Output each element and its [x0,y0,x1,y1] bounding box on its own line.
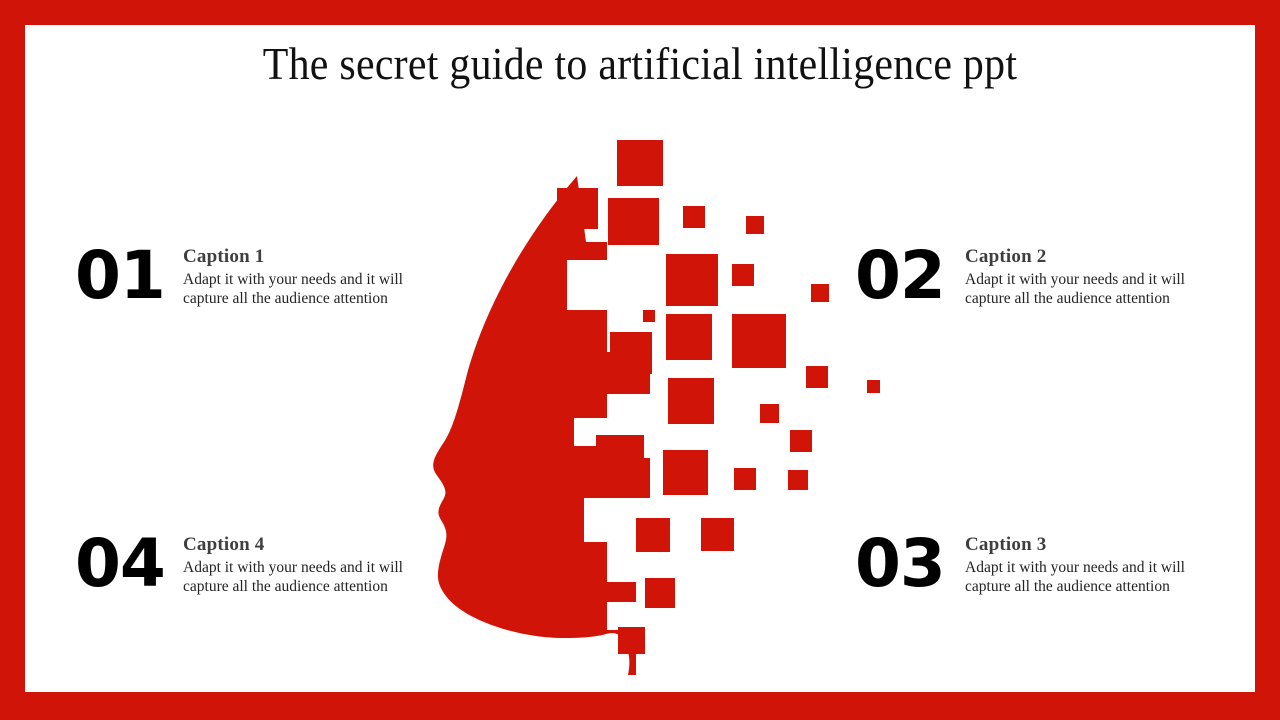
pixel-square [746,216,764,234]
ai-head-pixel-dissolve-icon [400,130,900,675]
head-silhouette-svg [400,130,900,675]
page-title: The secret guide to artificial intellige… [68,35,1212,93]
pixel-square [668,378,714,424]
pixel-square [790,430,812,452]
slide: The secret guide to artificial intellige… [0,0,1280,720]
pixel-square [867,380,880,393]
caption-block-02[interactable]: 02 Caption 2 Adapt it with your needs an… [855,240,1215,312]
pixel-square [610,332,652,374]
caption-heading-04: Caption 4 [183,532,428,557]
pixel-square [596,435,644,483]
pixel-square [734,468,756,490]
pixel-square [666,314,712,360]
pixel-square [663,450,708,495]
pixel-square [575,312,607,344]
pixel-square [732,314,786,368]
caption-heading-03: Caption 3 [965,532,1215,557]
pixel-square [643,310,655,322]
pixel-square [645,578,675,608]
head-profile-shape [433,176,650,675]
pixel-square [760,404,779,423]
caption-text-04: Caption 4 Adapt it with your needs and i… [183,528,428,596]
caption-number-01: 01 [75,240,183,312]
pixel-square [666,254,718,306]
caption-text-01: Caption 1 Adapt it with your needs and i… [183,240,428,308]
caption-text-03: Caption 3 Adapt it with your needs and i… [965,528,1215,596]
caption-body-04: Adapt it with your needs and it will cap… [183,559,428,596]
pixel-square [617,140,663,186]
caption-block-04[interactable]: 04 Caption 4 Adapt it with your needs an… [75,528,428,600]
pixel-square [636,518,670,552]
pixel-square [811,284,829,302]
pixel-square [701,518,734,551]
pixel-square [788,470,808,490]
pixel-square [732,264,754,286]
caption-block-03[interactable]: 03 Caption 3 Adapt it with your needs an… [855,528,1215,600]
caption-text-02: Caption 2 Adapt it with your needs and i… [965,240,1215,308]
caption-heading-02: Caption 2 [965,244,1215,269]
pixel-square [683,206,705,228]
pixel-square [557,188,598,229]
caption-body-03: Adapt it with your needs and it will cap… [965,559,1215,596]
pixel-square [806,366,828,388]
caption-body-02: Adapt it with your needs and it will cap… [965,271,1215,308]
caption-body-01: Adapt it with your needs and it will cap… [183,271,428,308]
pixel-square [618,627,645,654]
caption-block-01[interactable]: 01 Caption 1 Adapt it with your needs an… [75,240,428,312]
caption-number-04: 04 [75,528,183,600]
slide-canvas: The secret guide to artificial intellige… [25,25,1255,692]
pixel-square [608,198,659,245]
caption-heading-01: Caption 1 [183,244,428,269]
